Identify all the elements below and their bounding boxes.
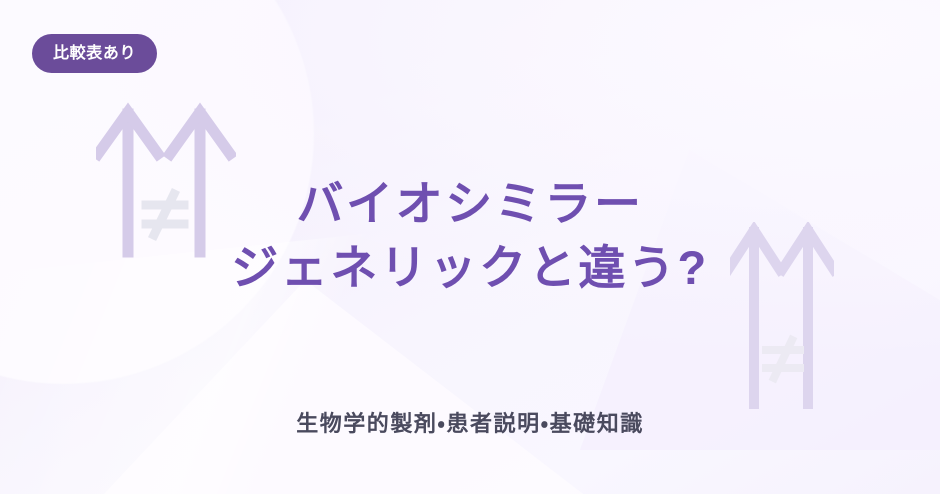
subtitle: 生物学的製剤・患者説明・基礎知識 [0, 410, 940, 439]
comparison-table-badge[interactable]: 比較表あり [32, 34, 157, 73]
eyecatch-canvas: 比較表あり バイオシミラー ジェネリックと違う? 生物学的製剤・患者説明・基礎知… [0, 0, 940, 494]
title-line-2: ジェネリックと違う? [0, 236, 940, 300]
title-line-1: バイオシミラー [0, 172, 940, 236]
page-title: バイオシミラー ジェネリックと違う? [0, 172, 940, 300]
